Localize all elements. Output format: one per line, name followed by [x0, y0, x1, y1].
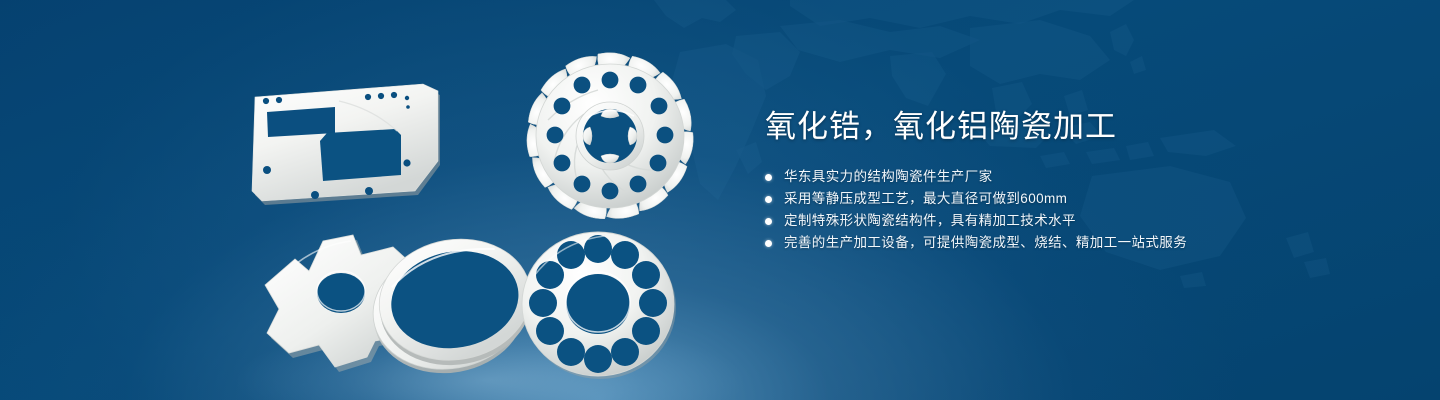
feature-item-1: 华东具实力的结构陶瓷件生产厂家 — [765, 166, 1385, 188]
feature-item-1-label: 华东具实力的结构陶瓷件生产厂家 — [784, 166, 993, 188]
feature-item-2-label: 采用等静压成型工艺，最大直径可做到600mm — [784, 188, 1067, 210]
feature-item-3: 定制特殊形状陶瓷结构件，具有精加工技术水平 — [765, 210, 1385, 232]
feature-item-4-label: 完善的生产加工设备，可提供陶瓷成型、烧结、精加工一站式服务 — [784, 232, 1187, 254]
bullet-dot-icon — [765, 218, 772, 225]
ceramic-perforated-disc-photo — [522, 232, 676, 379]
feature-item-4: 完善的生产加工设备，可提供陶瓷成型、烧结、精加工一站式服务 — [765, 232, 1385, 254]
feature-item-2: 采用等静压成型工艺，最大直径可做到600mm — [765, 188, 1385, 210]
banner-text-block: 氧化锆，氧化铝陶瓷加工 华东具实力的结构陶瓷件生产厂家 采用等静压成型工艺，最大… — [765, 105, 1385, 254]
feature-item-3-label: 定制特殊形状陶瓷结构件，具有精加工技术水平 — [784, 210, 1076, 232]
banner-title: 氧化锆，氧化铝陶瓷加工 — [765, 105, 1385, 149]
ceramic-impeller-photo — [525, 52, 695, 222]
bullet-dot-icon — [765, 174, 772, 181]
bullet-dot-icon — [765, 240, 772, 247]
promo-banner: 氧化锆，氧化铝陶瓷加工 华东具实力的结构陶瓷件生产厂家 采用等静压成型工艺，最大… — [0, 0, 1440, 400]
ceramic-mounting-plate-photo — [252, 84, 440, 205]
bullet-dot-icon — [765, 196, 772, 203]
product-photo-group — [235, 45, 705, 385]
banner-feature-list: 华东具实力的结构陶瓷件生产厂家 采用等静压成型工艺，最大直径可做到600mm 定… — [765, 166, 1385, 254]
